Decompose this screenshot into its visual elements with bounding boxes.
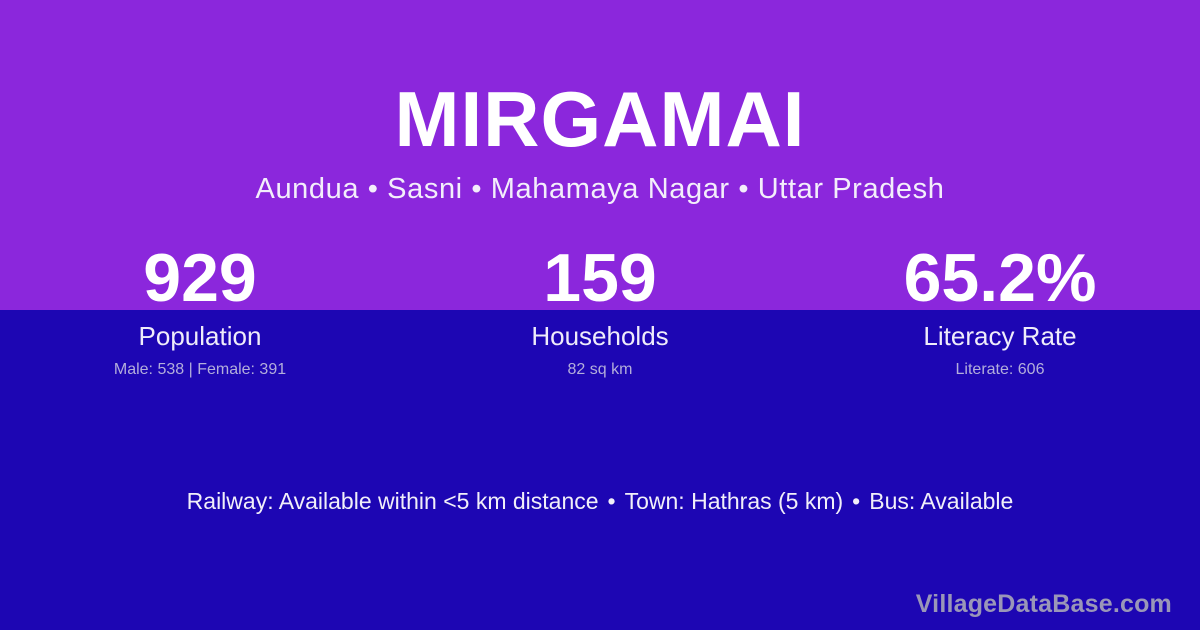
stat-label-households: Households <box>400 313 800 351</box>
stat-block-households: 159 Households 82 sq km <box>400 243 800 380</box>
infrastructure-railway: Railway: Available within <5 km distance <box>187 488 599 514</box>
stat-sub-literacy-rate: Literate: 606 <box>800 351 1200 380</box>
stat-value-households: 159 <box>400 243 800 313</box>
stat-value-literacy-rate: 65.2% <box>800 243 1200 313</box>
infrastructure-separator-2: • <box>843 488 869 514</box>
stat-label-population: Population <box>0 313 400 351</box>
infrastructure-town: Town: Hathras (5 km) <box>625 488 844 514</box>
statistics-row: 929 Population Male: 538 | Female: 391 1… <box>0 243 1200 380</box>
breadcrumb: Aundua • Sasni • Mahamaya Nagar • Uttar … <box>0 160 1200 206</box>
infrastructure-bus: Bus: Available <box>869 488 1013 514</box>
stat-sub-population: Male: 538 | Female: 391 <box>0 351 400 380</box>
stat-label-literacy-rate: Literacy Rate <box>800 313 1200 351</box>
stat-block-literacy-rate: 65.2% Literacy Rate Literate: 606 <box>800 243 1200 380</box>
card-header: MIRGAMAI Aundua • Sasni • Mahamaya Nagar… <box>0 0 1200 206</box>
stat-block-population: 929 Population Male: 538 | Female: 391 <box>0 243 400 380</box>
stat-value-population: 929 <box>0 243 400 313</box>
infrastructure-separator-1: • <box>599 488 625 514</box>
stat-sub-households: 82 sq km <box>400 351 800 380</box>
village-info-card: MIRGAMAI Aundua • Sasni • Mahamaya Nagar… <box>0 0 1200 630</box>
site-watermark: VillageDataBase.com <box>916 589 1172 619</box>
page-title: MIRGAMAI <box>0 0 1200 160</box>
infrastructure-summary: Railway: Available within <5 km distance… <box>0 487 1200 515</box>
